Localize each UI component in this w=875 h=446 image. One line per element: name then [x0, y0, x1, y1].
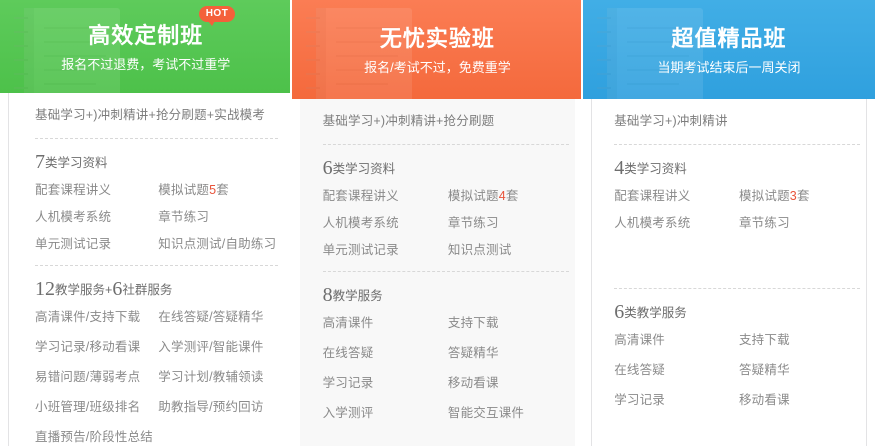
section-divider: [323, 271, 570, 272]
material-item: 人机模考系统: [614, 214, 735, 232]
material-item: 知识点测试: [448, 241, 569, 259]
plan-title-wrap-1: 无忧实验班: [380, 24, 495, 54]
plan-title-wrap-0: 高效定制班 HOT: [88, 21, 203, 51]
service-item: 智能交互课件: [448, 404, 569, 422]
material-item: 配套课程讲义: [35, 181, 154, 199]
plan-stages: 基础学习+)冲刺精讲: [614, 111, 860, 131]
services-grid: 高清课件 支持下载 在线答疑 答疑精华 学习记录 移动看课 入学测评 智能交互课…: [323, 314, 570, 422]
services-heading: 8教学服务: [323, 282, 570, 309]
material-suffix: 套: [506, 189, 519, 203]
plan-card-2[interactable]: 超值精品班 当期考试结束后一周关闭 基础学习+)冲刺精讲 4类学习资料 配套课程…: [583, 0, 875, 446]
service-item: 支持下载: [739, 331, 860, 349]
material-item: 配套课程讲义: [614, 187, 735, 205]
section-divider: [35, 265, 278, 266]
service-item: 高清课件: [323, 314, 444, 332]
services-heading: 12教学服务+6社群服务: [35, 276, 278, 303]
materials-count: 4: [614, 157, 624, 179]
material-item: 单元测试记录: [35, 235, 154, 253]
course-plan-comparison: 高效定制班 HOT 报名不过退费，考试不过重学 基础学习+)冲刺精讲+抢分刷题+…: [0, 0, 875, 446]
service-item: 移动看课: [448, 374, 569, 392]
materials-count: 6: [323, 157, 333, 179]
section-divider: [614, 144, 860, 145]
service-item: 学习记录/移动看课: [35, 338, 154, 356]
material-item: 模拟试题4套: [448, 187, 569, 205]
material-item: 章节练习: [158, 208, 277, 226]
materials-grid: 配套课程讲义 模拟试题5套 人机模考系统 章节练习 单元测试记录 知识点测试/自…: [35, 181, 278, 253]
plan-header-2: 超值精品班 当期考试结束后一周关闭: [583, 0, 875, 99]
material-item: 人机模考系统: [35, 208, 154, 226]
material-prefix: 模拟试题: [739, 189, 790, 203]
services-unit: 教学服务: [333, 289, 383, 303]
material-item: 模拟试题3套: [739, 187, 860, 205]
services-count-2: 6: [112, 278, 122, 300]
material-count-highlight: 3: [790, 189, 797, 203]
plan-subtitle: 报名不过退费，考试不过重学: [61, 54, 230, 76]
service-item: 移动看课: [739, 391, 860, 409]
section-divider: [614, 288, 860, 289]
material-item: 章节练习: [448, 214, 569, 232]
materials-unit: 类学习资料: [333, 162, 396, 176]
plan-body-0: 基础学习+)冲刺精讲+抢分刷题+实战模考 7类学习资料 配套课程讲义 模拟试题5…: [8, 93, 284, 446]
material-item: 模拟试题5套: [158, 181, 277, 199]
plan-card-1[interactable]: 无忧实验班 报名/考试不过，免费重学 基础学习+)冲刺精讲+抢分刷题 6类学习资…: [292, 0, 584, 446]
service-item: 支持下载: [448, 314, 569, 332]
service-item: 易错问题/薄弱考点: [35, 368, 154, 386]
material-item: 人机模考系统: [323, 214, 444, 232]
service-item: 直播预告/阶段性总结: [35, 428, 154, 446]
material-item: 配套课程讲义: [323, 187, 444, 205]
plan-card-0[interactable]: 高效定制班 HOT 报名不过退费，考试不过重学 基础学习+)冲刺精讲+抢分刷题+…: [0, 0, 292, 446]
service-item: 入学测评: [323, 404, 444, 422]
services-grid: 高清课件/支持下载 在线答疑/答疑精华 学习记录/移动看课 入学测评/智能课件 …: [35, 308, 278, 446]
plan-title: 无忧实验班: [380, 24, 495, 54]
hot-badge: HOT: [199, 6, 236, 22]
plan-body-2: 基础学习+)冲刺精讲 4类学习资料 配套课程讲义 模拟试题3套 人机模考系统 章…: [591, 99, 867, 446]
service-item: 在线答疑/答疑精华: [158, 308, 277, 326]
services-unit: 类教学服务: [624, 306, 687, 320]
materials-heading: 4类学习资料: [614, 155, 860, 182]
plan-header-0: 高效定制班 HOT 报名不过退费，考试不过重学: [0, 0, 292, 93]
section-divider: [323, 144, 570, 145]
service-item: 学习计划/教辅领读: [158, 368, 277, 386]
materials-heading: 7类学习资料: [35, 149, 278, 176]
plan-title: 超值精品班: [671, 24, 786, 54]
services-unit: 教学服务: [55, 283, 105, 297]
plan-stages: 基础学习+)冲刺精讲+抢分刷题+实战模考: [35, 105, 278, 125]
service-item: 入学测评/智能课件: [158, 338, 277, 356]
materials-unit: 类学习资料: [45, 156, 108, 170]
services-count: 12: [35, 278, 55, 300]
plan-body-1: 基础学习+)冲刺精讲+抢分刷题 6类学习资料 配套课程讲义 模拟试题4套 人机模…: [300, 99, 576, 446]
services-unit-2: 社群服务: [122, 283, 172, 297]
material-item: 章节练习: [739, 214, 860, 232]
service-item: 答疑精华: [739, 361, 860, 379]
plan-title-wrap-2: 超值精品班: [671, 24, 786, 54]
services-grid: 高清课件 支持下载 在线答疑 答疑精华 学习记录 移动看课: [614, 331, 860, 409]
service-item: 学习记录: [323, 374, 444, 392]
services-count: 6: [614, 301, 624, 323]
materials-heading: 6类学习资料: [323, 155, 570, 182]
services-heading: 6类教学服务: [614, 299, 860, 326]
material-item: 知识点测试/自助练习: [158, 235, 277, 253]
service-item: 助教指导/预约回访: [158, 398, 277, 416]
service-item: 小班管理/班级排名: [35, 398, 154, 416]
plan-title: 高效定制班: [88, 21, 203, 51]
service-item: 答疑精华: [448, 344, 569, 362]
service-item: 学习记录: [614, 391, 735, 409]
material-suffix: 套: [216, 183, 229, 197]
material-prefix: 模拟试题: [158, 183, 209, 197]
services-count: 8: [323, 284, 333, 306]
materials-grid: 配套课程讲义 模拟试题4套 人机模考系统 章节练习 单元测试记录 知识点测试: [323, 187, 570, 259]
materials-unit: 类学习资料: [624, 162, 687, 176]
service-item: 在线答疑: [614, 361, 735, 379]
material-prefix: 模拟试题: [448, 189, 499, 203]
material-count-highlight: 4: [499, 189, 506, 203]
plan-header-1: 无忧实验班 报名/考试不过，免费重学: [292, 0, 584, 99]
plan-subtitle: 当期考试结束后一周关闭: [657, 57, 800, 79]
materials-count: 7: [35, 151, 45, 173]
material-suffix: 套: [797, 189, 810, 203]
plan-stages: 基础学习+)冲刺精讲+抢分刷题: [323, 111, 570, 131]
service-item: 高清课件/支持下载: [35, 308, 154, 326]
section-divider: [35, 138, 278, 139]
service-item: 在线答疑: [323, 344, 444, 362]
plan-subtitle: 报名/考试不过，免费重学: [364, 57, 511, 79]
service-item: 高清课件: [614, 331, 735, 349]
material-item: 单元测试记录: [323, 241, 444, 259]
materials-grid: 配套课程讲义 模拟试题3套 人机模考系统 章节练习: [614, 187, 860, 232]
